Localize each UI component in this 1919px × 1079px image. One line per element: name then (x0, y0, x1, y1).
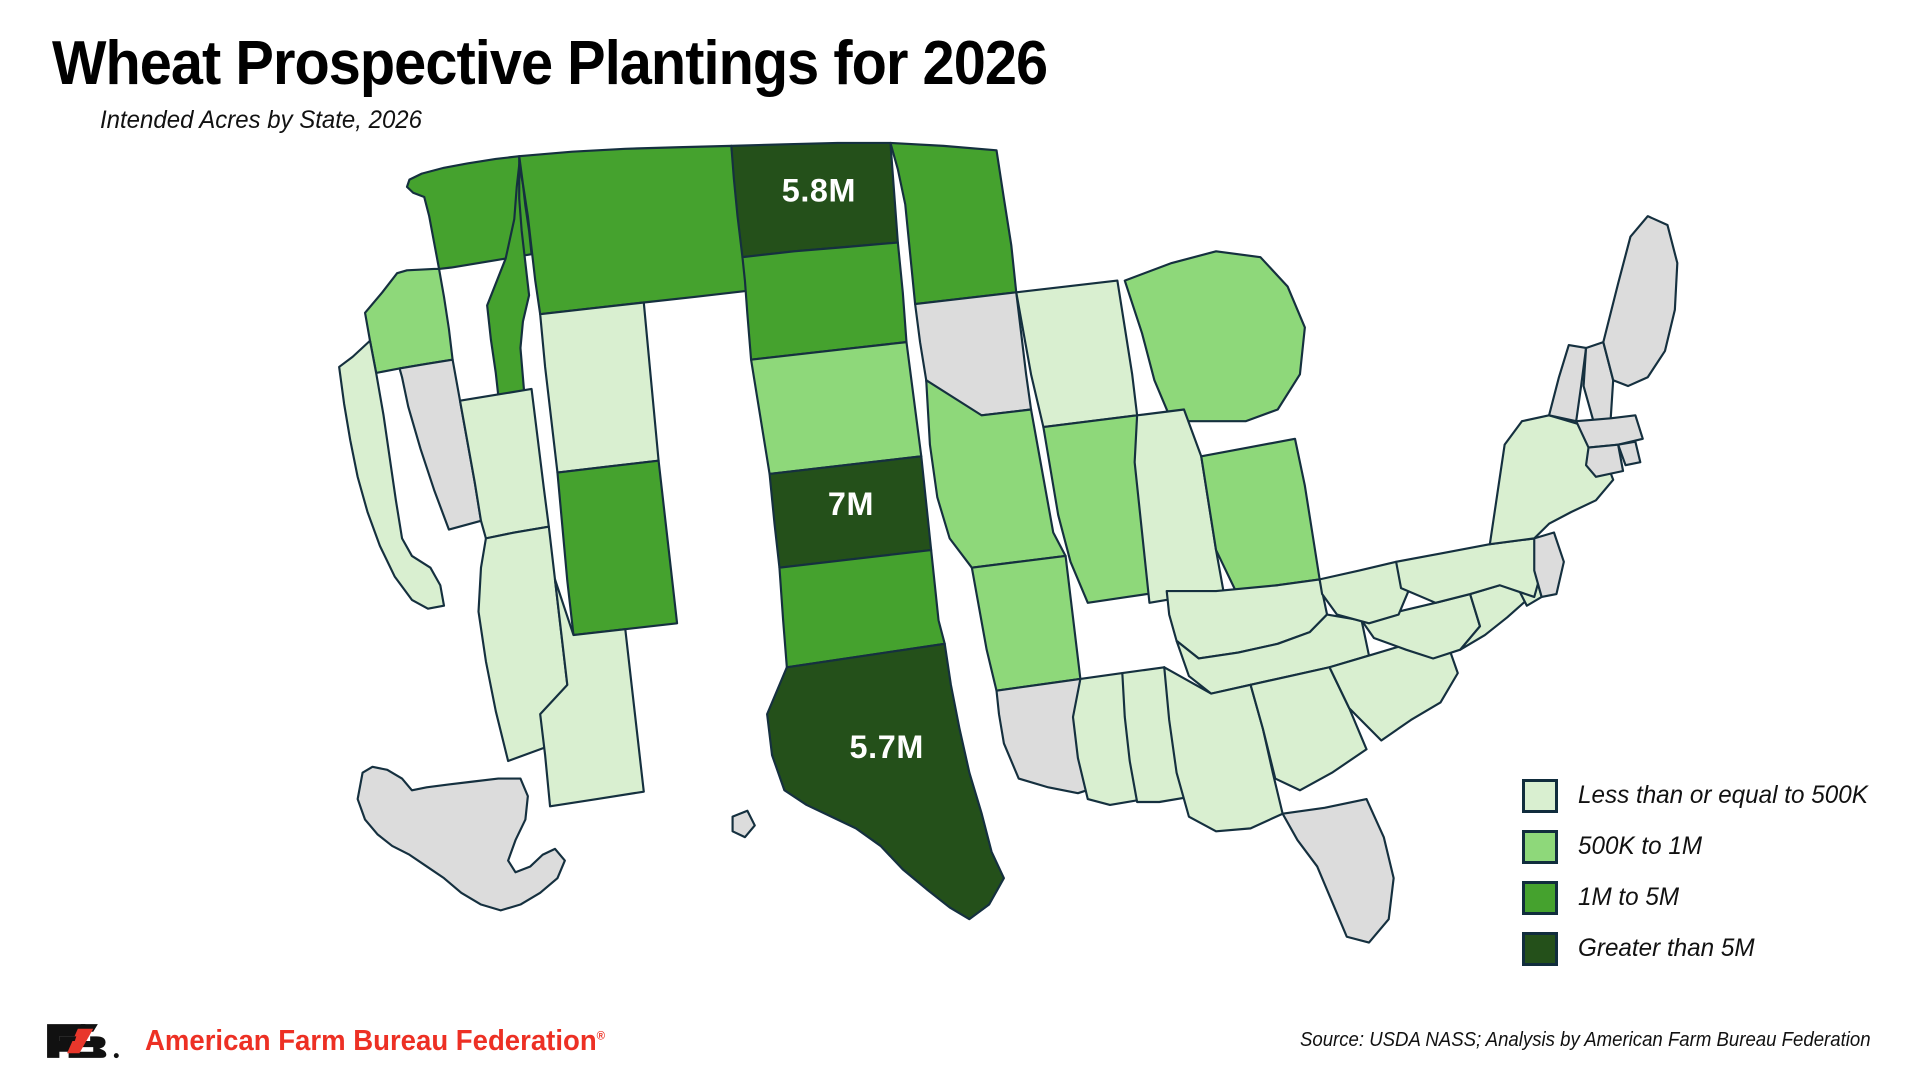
legend-label-1: 500K to 1M (1578, 832, 1702, 861)
state-value-label-nd: 5.8M (782, 173, 856, 209)
source-note: Source: USDA NASS; Analysis by American … (1300, 1029, 1871, 1052)
state-mt[interactable] (519, 146, 747, 314)
state-nj[interactable] (1534, 533, 1564, 597)
state-tx[interactable] (767, 644, 1004, 919)
page-subtitle: Intended Acres by State, 2026 (100, 106, 422, 135)
state-fl[interactable] (1283, 799, 1394, 943)
state-or[interactable] (365, 269, 453, 373)
state-mi[interactable] (1125, 251, 1305, 421)
legend-item[interactable]: 1M to 5M (1522, 872, 1912, 923)
legend-item[interactable]: 500K to 1M (1522, 821, 1912, 872)
state-ct[interactable] (1586, 445, 1623, 477)
state-ak[interactable] (358, 767, 565, 911)
brand-name: American Farm Bureau Federation® (145, 1025, 605, 1058)
legend-item[interactable]: Less than or equal to 500K (1522, 770, 1912, 821)
state-wv[interactable] (1320, 562, 1409, 624)
state-sd[interactable] (742, 243, 906, 360)
legend-swatch-0 (1522, 779, 1558, 813)
legend-swatch-1 (1522, 830, 1558, 864)
us-states-map: 5.8M7M5.7M (230, 140, 1710, 1020)
legend-swatch-3 (1522, 932, 1558, 966)
legend: Less than or equal to 500K 500K to 1M 1M… (1522, 770, 1912, 974)
state-co[interactable] (557, 461, 677, 635)
legend-item[interactable]: Greater than 5M (1522, 923, 1912, 974)
state-wi[interactable] (1016, 281, 1137, 427)
legend-label-0: Less than or equal to 500K (1578, 781, 1868, 810)
legend-label-3: Greater than 5M (1578, 934, 1755, 963)
state-value-label-ks: 7M (828, 486, 874, 522)
brand-lockup: American Farm Bureau Federation® (45, 1021, 629, 1061)
state-ne[interactable] (751, 342, 921, 474)
us-map-svg: 5.8M7M5.7M (230, 140, 1710, 1020)
state-hi[interactable] (733, 811, 755, 837)
state-ar[interactable] (972, 556, 1081, 691)
farm-bureau-logo-icon (45, 1021, 123, 1061)
state-mn[interactable] (890, 143, 1016, 304)
state-vt[interactable] (1549, 345, 1586, 421)
state-pa[interactable] (1396, 538, 1542, 602)
page-title: Wheat Prospective Plantings for 2026 (52, 28, 1047, 99)
state-wy[interactable] (540, 303, 658, 473)
legend-label-2: 1M to 5M (1578, 883, 1679, 912)
footer: American Farm Bureau Federation® Source:… (0, 1009, 1919, 1079)
state-me[interactable] (1603, 216, 1677, 386)
registered-mark: ® (597, 1028, 605, 1042)
brand-name-text: American Farm Bureau Federation (145, 1025, 597, 1057)
legend-swatch-2 (1522, 881, 1558, 915)
state-value-label-tx: 5.7M (850, 729, 924, 765)
